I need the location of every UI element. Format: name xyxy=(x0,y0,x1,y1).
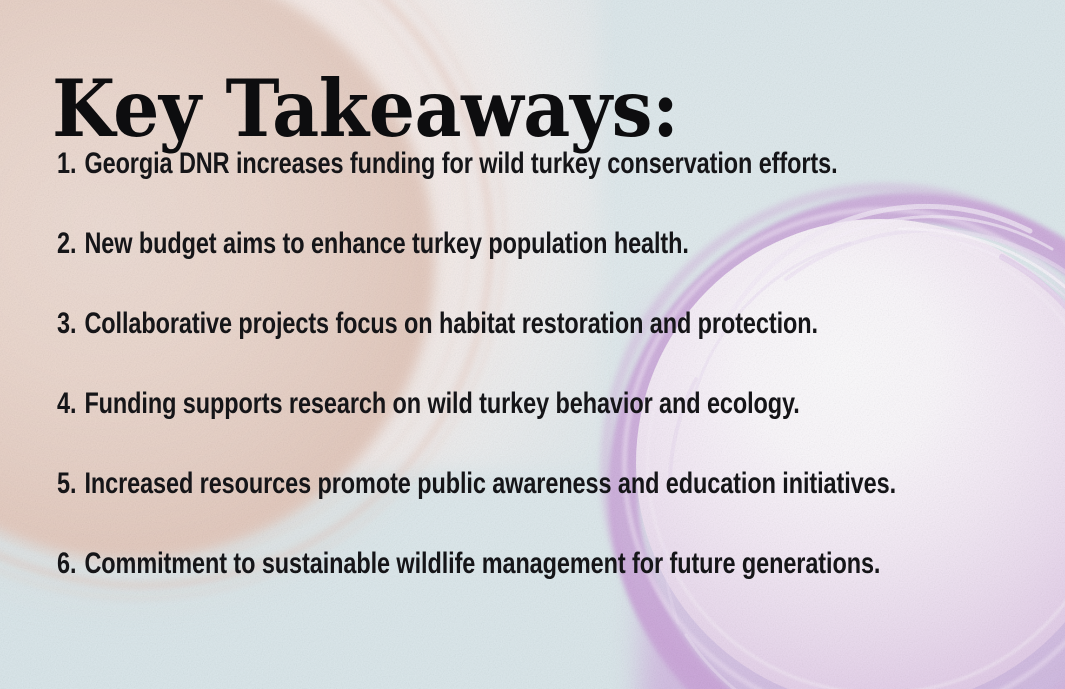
list-item-number: 2. xyxy=(57,227,76,260)
list-item-number: 4. xyxy=(57,387,76,420)
content-layer: Key Takeaways: 1. Georgia DNR increases … xyxy=(0,0,1065,689)
list-item-number: 3. xyxy=(57,307,76,340)
poster-canvas: Key Takeaways: 1. Georgia DNR increases … xyxy=(0,0,1065,689)
list-item: 6. Commitment to sustainable wildlife ma… xyxy=(57,546,820,626)
list-item: 1. Georgia DNR increases funding for wil… xyxy=(57,146,820,226)
list-item-text: Increased resources promote public aware… xyxy=(84,467,896,500)
page-title: Key Takeaways: xyxy=(52,69,678,150)
list-item-text: New budget aims to enhance turkey popula… xyxy=(84,227,688,260)
list-item-text: Funding supports research on wild turkey… xyxy=(84,387,799,420)
list-item: 5. Increased resources promote public aw… xyxy=(57,466,820,546)
list-item-number: 5. xyxy=(57,467,76,500)
list-item-text: Collaborative projects focus on habitat … xyxy=(84,307,818,340)
list-item: 4. Funding supports research on wild tur… xyxy=(57,386,820,466)
list-item-number: 6. xyxy=(57,547,76,580)
list-item: 3. Collaborative projects focus on habit… xyxy=(57,306,820,386)
list-item-text: Commitment to sustainable wildlife manag… xyxy=(84,547,880,580)
list-item-text: Georgia DNR increases funding for wild t… xyxy=(84,147,837,180)
takeaways-list: 1. Georgia DNR increases funding for wil… xyxy=(57,146,1017,626)
list-item: 2. New budget aims to enhance turkey pop… xyxy=(57,226,820,306)
list-item-number: 1. xyxy=(57,147,76,180)
